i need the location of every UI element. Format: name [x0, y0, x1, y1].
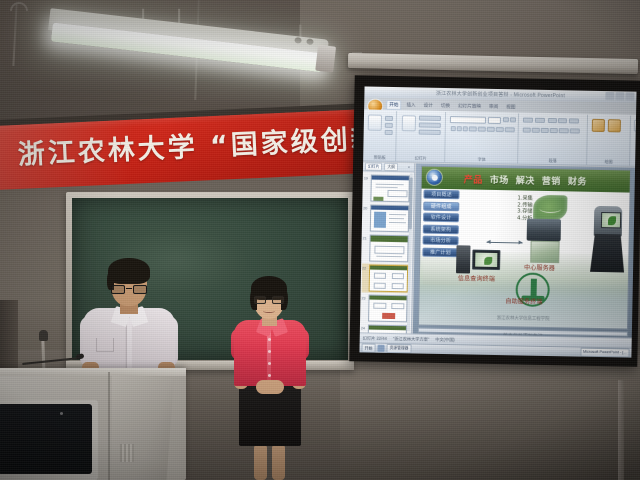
thumbnail-slide[interactable]: 21	[368, 235, 410, 263]
tab-design[interactable]: 设计	[421, 101, 436, 111]
crt-screen	[0, 404, 92, 474]
align-center-icon[interactable]	[532, 128, 540, 133]
leaf-logo-icon	[533, 195, 567, 222]
taskbar-window-powerpoint[interactable]: Microsoft PowerPoint - [...	[580, 348, 630, 358]
slide-nav-item: 市场	[490, 172, 509, 185]
maximize-icon[interactable]	[615, 92, 624, 100]
ribbon[interactable]: 剪贴板 幻灯片	[363, 109, 636, 166]
tab-home[interactable]: 开始	[386, 100, 401, 110]
text-direction-icon[interactable]	[570, 128, 580, 133]
slide-number: 23	[361, 296, 365, 300]
slide-number: 19	[364, 176, 368, 180]
layout-button[interactable]	[419, 116, 441, 121]
slide-sidebar-item: 市场分析	[423, 236, 459, 246]
podium-microphone-icon	[22, 352, 82, 368]
ribbon-group-clipboard: 剪贴板	[364, 110, 397, 161]
lectern-side-panel	[112, 374, 174, 480]
shrink-font-icon[interactable]	[510, 117, 516, 122]
kiosk-top	[594, 206, 623, 237]
ribbon-group-label: 剪贴板	[364, 154, 395, 161]
thumbnail-preview[interactable]	[369, 265, 409, 293]
slide-sidebar-item-selected: 硬件组成	[423, 201, 459, 211]
bold-icon[interactable]	[451, 126, 456, 131]
slide-thumbnail-pane[interactable]: 幻灯片 大纲 × 19	[360, 162, 415, 333]
powerpoint-title-text: 浙江农林大学创新创业项目答辩 - Microsoft PowerPoint	[436, 90, 565, 99]
clasped-hands	[256, 380, 284, 394]
screen-glint	[60, 412, 63, 415]
align-right-icon[interactable]	[541, 128, 549, 133]
light-end-cap	[315, 45, 336, 73]
close-icon[interactable]	[625, 92, 634, 100]
columns-icon[interactable]	[559, 128, 569, 133]
window-controls[interactable]	[605, 92, 634, 101]
left-leg	[254, 444, 267, 480]
close-pane-icon[interactable]: ×	[406, 164, 412, 170]
taskbar-window-explorer[interactable]: 资源管理器	[386, 344, 411, 353]
diagram-label-query-terminal: 信息查询终端	[458, 273, 495, 283]
leaf-icon	[484, 257, 492, 265]
copy-icon[interactable]	[385, 123, 393, 128]
tab-insert[interactable]: 插入	[403, 100, 418, 110]
computer-tower-icon	[456, 245, 471, 273]
current-slide[interactable]: 产品 市场 解决 营销 财务 项目概述 硬件组成 软件设计	[418, 166, 631, 330]
justify-icon[interactable]	[550, 128, 558, 133]
ribbon-group-label: 段落	[519, 157, 586, 164]
shirt-pocket	[96, 338, 114, 352]
lectern-vent	[120, 444, 134, 462]
thumbnail-slide[interactable]: 19	[369, 175, 411, 203]
theme-name: “浙江农林大学方案”	[393, 336, 429, 343]
diagram-label-central-server: 中心服务器	[524, 263, 555, 273]
tab-review[interactable]: 审阅	[486, 102, 501, 112]
slide-nav-item: 财务	[568, 174, 587, 187]
slide-canvas[interactable]: 产品 市场 解决 营销 财务 项目概述 硬件组成 软件设计	[413, 163, 635, 337]
slide-sidebar-item: 系统架构	[423, 224, 459, 234]
new-slide-button[interactable]	[402, 115, 416, 131]
classroom-photo: 浙江农林大学 “国家级创新创业 浙江农林大学创新创业项目答辩 - Microso…	[0, 0, 640, 480]
shadow-icon[interactable]	[478, 127, 486, 132]
tab-slides[interactable]: 幻灯片	[365, 162, 383, 170]
thumbnail-preview[interactable]	[368, 295, 408, 323]
crt-monitor	[0, 400, 98, 480]
bullets-icon[interactable]	[523, 117, 533, 122]
italic-icon[interactable]	[457, 126, 462, 131]
button	[268, 362, 271, 365]
kiosk-icon	[590, 206, 625, 273]
right-wall-panel	[340, 355, 640, 480]
decrease-indent-icon[interactable]	[548, 118, 557, 123]
reset-button[interactable]	[419, 123, 441, 128]
slide-sidebar-item: 项目概述	[423, 190, 459, 200]
thumbnail-slide[interactable]: 20	[369, 205, 411, 233]
thumbnail-slide-selected[interactable]: 22	[368, 265, 410, 293]
thumbnail-preview[interactable]	[370, 205, 410, 233]
server-card-shape	[530, 241, 559, 264]
tab-outline[interactable]: 大纲	[384, 163, 398, 171]
tab-view[interactable]: 视图	[503, 102, 518, 112]
section-button[interactable]	[419, 129, 441, 134]
font-size-input[interactable]	[488, 117, 501, 124]
line-spacing-icon[interactable]	[569, 118, 579, 123]
cut-icon[interactable]	[385, 116, 393, 121]
tab-slideshow[interactable]: 幻灯片放映	[455, 101, 484, 112]
glasses-icon	[110, 285, 148, 294]
kiosk-screen	[601, 212, 621, 228]
ribbon-group-drawing: 绘图	[588, 115, 631, 166]
slide-sidebar-item: 推广计划	[422, 247, 458, 257]
slide-number: 22	[362, 266, 366, 270]
monitor-icon	[472, 250, 500, 271]
paste-button[interactable]	[368, 115, 382, 131]
server-shape	[527, 219, 561, 242]
button	[268, 350, 271, 353]
char-spacing-icon[interactable]	[487, 127, 495, 132]
thumbnail-preview[interactable]	[370, 175, 410, 203]
thumbnail-pane-tabs[interactable]: 幻灯片 大纲 ×	[363, 162, 414, 172]
increase-indent-icon[interactable]	[558, 118, 567, 123]
slide-number: 20	[363, 206, 367, 210]
slide-nav-item: 产品	[464, 172, 483, 185]
right-leg	[272, 444, 285, 480]
tab-transitions[interactable]: 切换	[438, 101, 453, 111]
browser-icon[interactable]	[377, 345, 384, 352]
ribbon-group-label: 字体	[446, 156, 517, 163]
ribbon-group-font: 字体	[446, 112, 519, 163]
ribbon-group-paragraph: 段落	[519, 113, 588, 164]
smile	[263, 309, 275, 313]
change-case-icon[interactable]	[496, 127, 504, 132]
diagram-label-kiosk: 自助服务终端	[505, 296, 542, 306]
thumbnail-list[interactable]: 19 20	[360, 172, 414, 333]
button	[268, 374, 271, 377]
arrange-icon[interactable]	[608, 119, 621, 132]
wall-edge	[618, 380, 624, 480]
slide-sidebar-item: 软件设计	[423, 213, 459, 223]
slide-sidebar-menu: 项目概述 硬件组成 软件设计 系统架构 市场分析 推广计划	[422, 190, 459, 260]
ribbon-group-editing: 编辑	[631, 116, 636, 166]
start-button[interactable]: 开始	[361, 343, 375, 352]
hair	[108, 258, 150, 284]
font-name-input[interactable]	[450, 116, 486, 124]
slide-counter: 幻灯片 22/44	[363, 335, 387, 341]
font-color-icon[interactable]	[505, 127, 515, 132]
slide-number: 24	[361, 326, 365, 330]
slide-body: 项目概述 硬件组成 软件设计 系统架构 市场分析 推广计划 1.采集 2.传输 …	[419, 189, 630, 329]
glasses-icon	[253, 296, 285, 304]
thumbnail-slide[interactable]: 23	[367, 295, 409, 323]
shapes-icon[interactable]	[592, 119, 605, 132]
numbering-icon[interactable]	[535, 118, 545, 123]
lectern-seam	[108, 372, 110, 480]
minimize-icon[interactable]	[605, 92, 614, 100]
ribbon-group-slides: 幻灯片	[397, 111, 446, 162]
ribbon-group-label: 幻灯片	[397, 155, 444, 162]
ribbon-group-label: 编辑	[631, 160, 636, 166]
underline-icon[interactable]	[463, 126, 468, 131]
format-painter-icon[interactable]	[385, 130, 393, 135]
slide-nav-item: 营销	[542, 173, 561, 186]
slide-nav-item: 解决	[516, 173, 535, 186]
bullet-item: 3.存储	[517, 208, 532, 215]
monitor-screen	[475, 253, 497, 267]
bullet-item: 1.采集	[517, 195, 532, 202]
projection-screen: 浙江农林大学创新创业项目答辩 - Microsoft PowerPoint 开始…	[349, 75, 640, 366]
align-left-icon[interactable]	[523, 127, 531, 132]
kiosk-body	[590, 234, 625, 273]
lectern-top	[0, 368, 186, 376]
microphone-icon	[39, 330, 48, 341]
button	[268, 338, 271, 341]
connector-arrow	[487, 242, 523, 244]
language-indicator[interactable]: 中文(中国)	[435, 336, 455, 342]
powerpoint-window[interactable]: 浙江农林大学创新创业项目答辩 - Microsoft PowerPoint 开始…	[359, 86, 636, 357]
grow-font-icon[interactable]	[503, 117, 509, 122]
thumbnail-preview[interactable]	[369, 235, 409, 263]
find-button[interactable]	[634, 120, 637, 132]
slide-number: 21	[363, 236, 367, 240]
strikethrough-icon[interactable]	[469, 126, 477, 131]
ribbon-group-label: 绘图	[588, 159, 629, 166]
